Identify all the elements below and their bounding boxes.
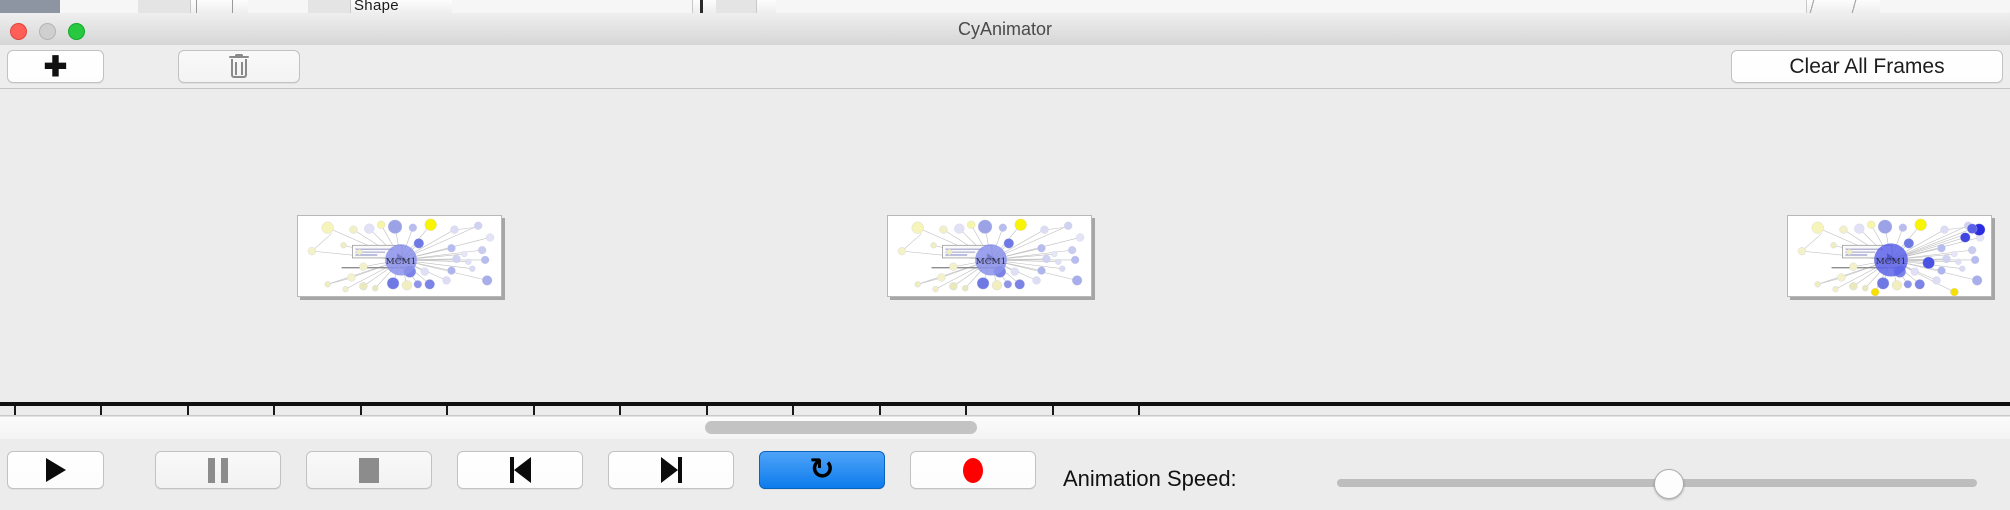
stop-icon (359, 458, 379, 483)
svg-text:MCM1: MCM1 (1876, 257, 1907, 267)
trash-icon (228, 54, 250, 79)
axis-tick-minor (1138, 406, 1140, 416)
svg-text:MCM1: MCM1 (976, 257, 1007, 267)
axis-tick-minor (273, 406, 275, 416)
play-button[interactable] (7, 451, 104, 489)
axis-tick-major (533, 406, 535, 416)
previous-frame-button[interactable] (457, 451, 583, 489)
axis-tick-minor (619, 406, 621, 416)
timeline-axis-line (0, 402, 2010, 406)
axis-tick-major (879, 406, 881, 416)
add-frame-button[interactable]: ✚ (7, 50, 104, 83)
window-title: CyAnimator (0, 14, 2010, 45)
timeline-scrollbar[interactable] (0, 416, 2010, 440)
record-icon (963, 458, 983, 483)
frame-thumbnail[interactable]: MCM1 (887, 215, 1092, 297)
loop-icon: ↻ (809, 455, 834, 485)
axis-tick-major (187, 406, 189, 416)
stop-button[interactable] (306, 451, 432, 489)
record-button[interactable] (910, 451, 1036, 489)
frame-toolbar: ✚ Clear All Frames (0, 45, 2010, 89)
axis-tick-minor (965, 406, 967, 416)
axis-tick-major (706, 406, 708, 416)
clear-all-frames-button[interactable]: Clear All Frames (1731, 50, 2003, 83)
svg-text:MCM1: MCM1 (386, 257, 417, 267)
background-window-strip: Shape (0, 0, 2010, 15)
axis-tick-minor (100, 406, 102, 416)
play-icon (46, 458, 66, 482)
delete-frame-button[interactable] (178, 50, 300, 83)
cyanimator-window: Shape CyAnimator ✚ Clear All Frames (0, 0, 2010, 510)
pause-button[interactable] (155, 451, 281, 489)
playback-controls-bar: ↻ Animation Speed: (0, 439, 2010, 510)
loop-button[interactable]: ↻ (759, 451, 885, 489)
animation-speed-slider-thumb[interactable] (1654, 469, 1684, 499)
axis-tick-major (14, 406, 16, 416)
skip-forward-icon (661, 457, 682, 483)
frame-thumbnail[interactable]: MCM1 (1787, 215, 1992, 297)
skip-back-icon (510, 457, 531, 483)
frame-thumbnail[interactable]: MCM1 (297, 215, 502, 297)
timeline-scrollbar-thumb[interactable] (705, 421, 977, 434)
axis-tick-major (360, 406, 362, 416)
axis-tick-minor (446, 406, 448, 416)
animation-speed-slider[interactable] (1337, 479, 1977, 487)
axis-tick-minor (792, 406, 794, 416)
background-window-label: Shape (354, 0, 399, 14)
axis-tick-major (1052, 406, 1054, 416)
timeline-panel[interactable]: MCM1 MCM1 MCM1 12131415161718 Seconds (0, 89, 2010, 416)
clear-all-frames-label: Clear All Frames (1789, 55, 1944, 79)
pause-icon (208, 458, 228, 483)
next-frame-button[interactable] (608, 451, 734, 489)
animation-speed-label: Animation Speed: (1063, 466, 1237, 492)
window-titlebar: CyAnimator (0, 14, 2010, 46)
